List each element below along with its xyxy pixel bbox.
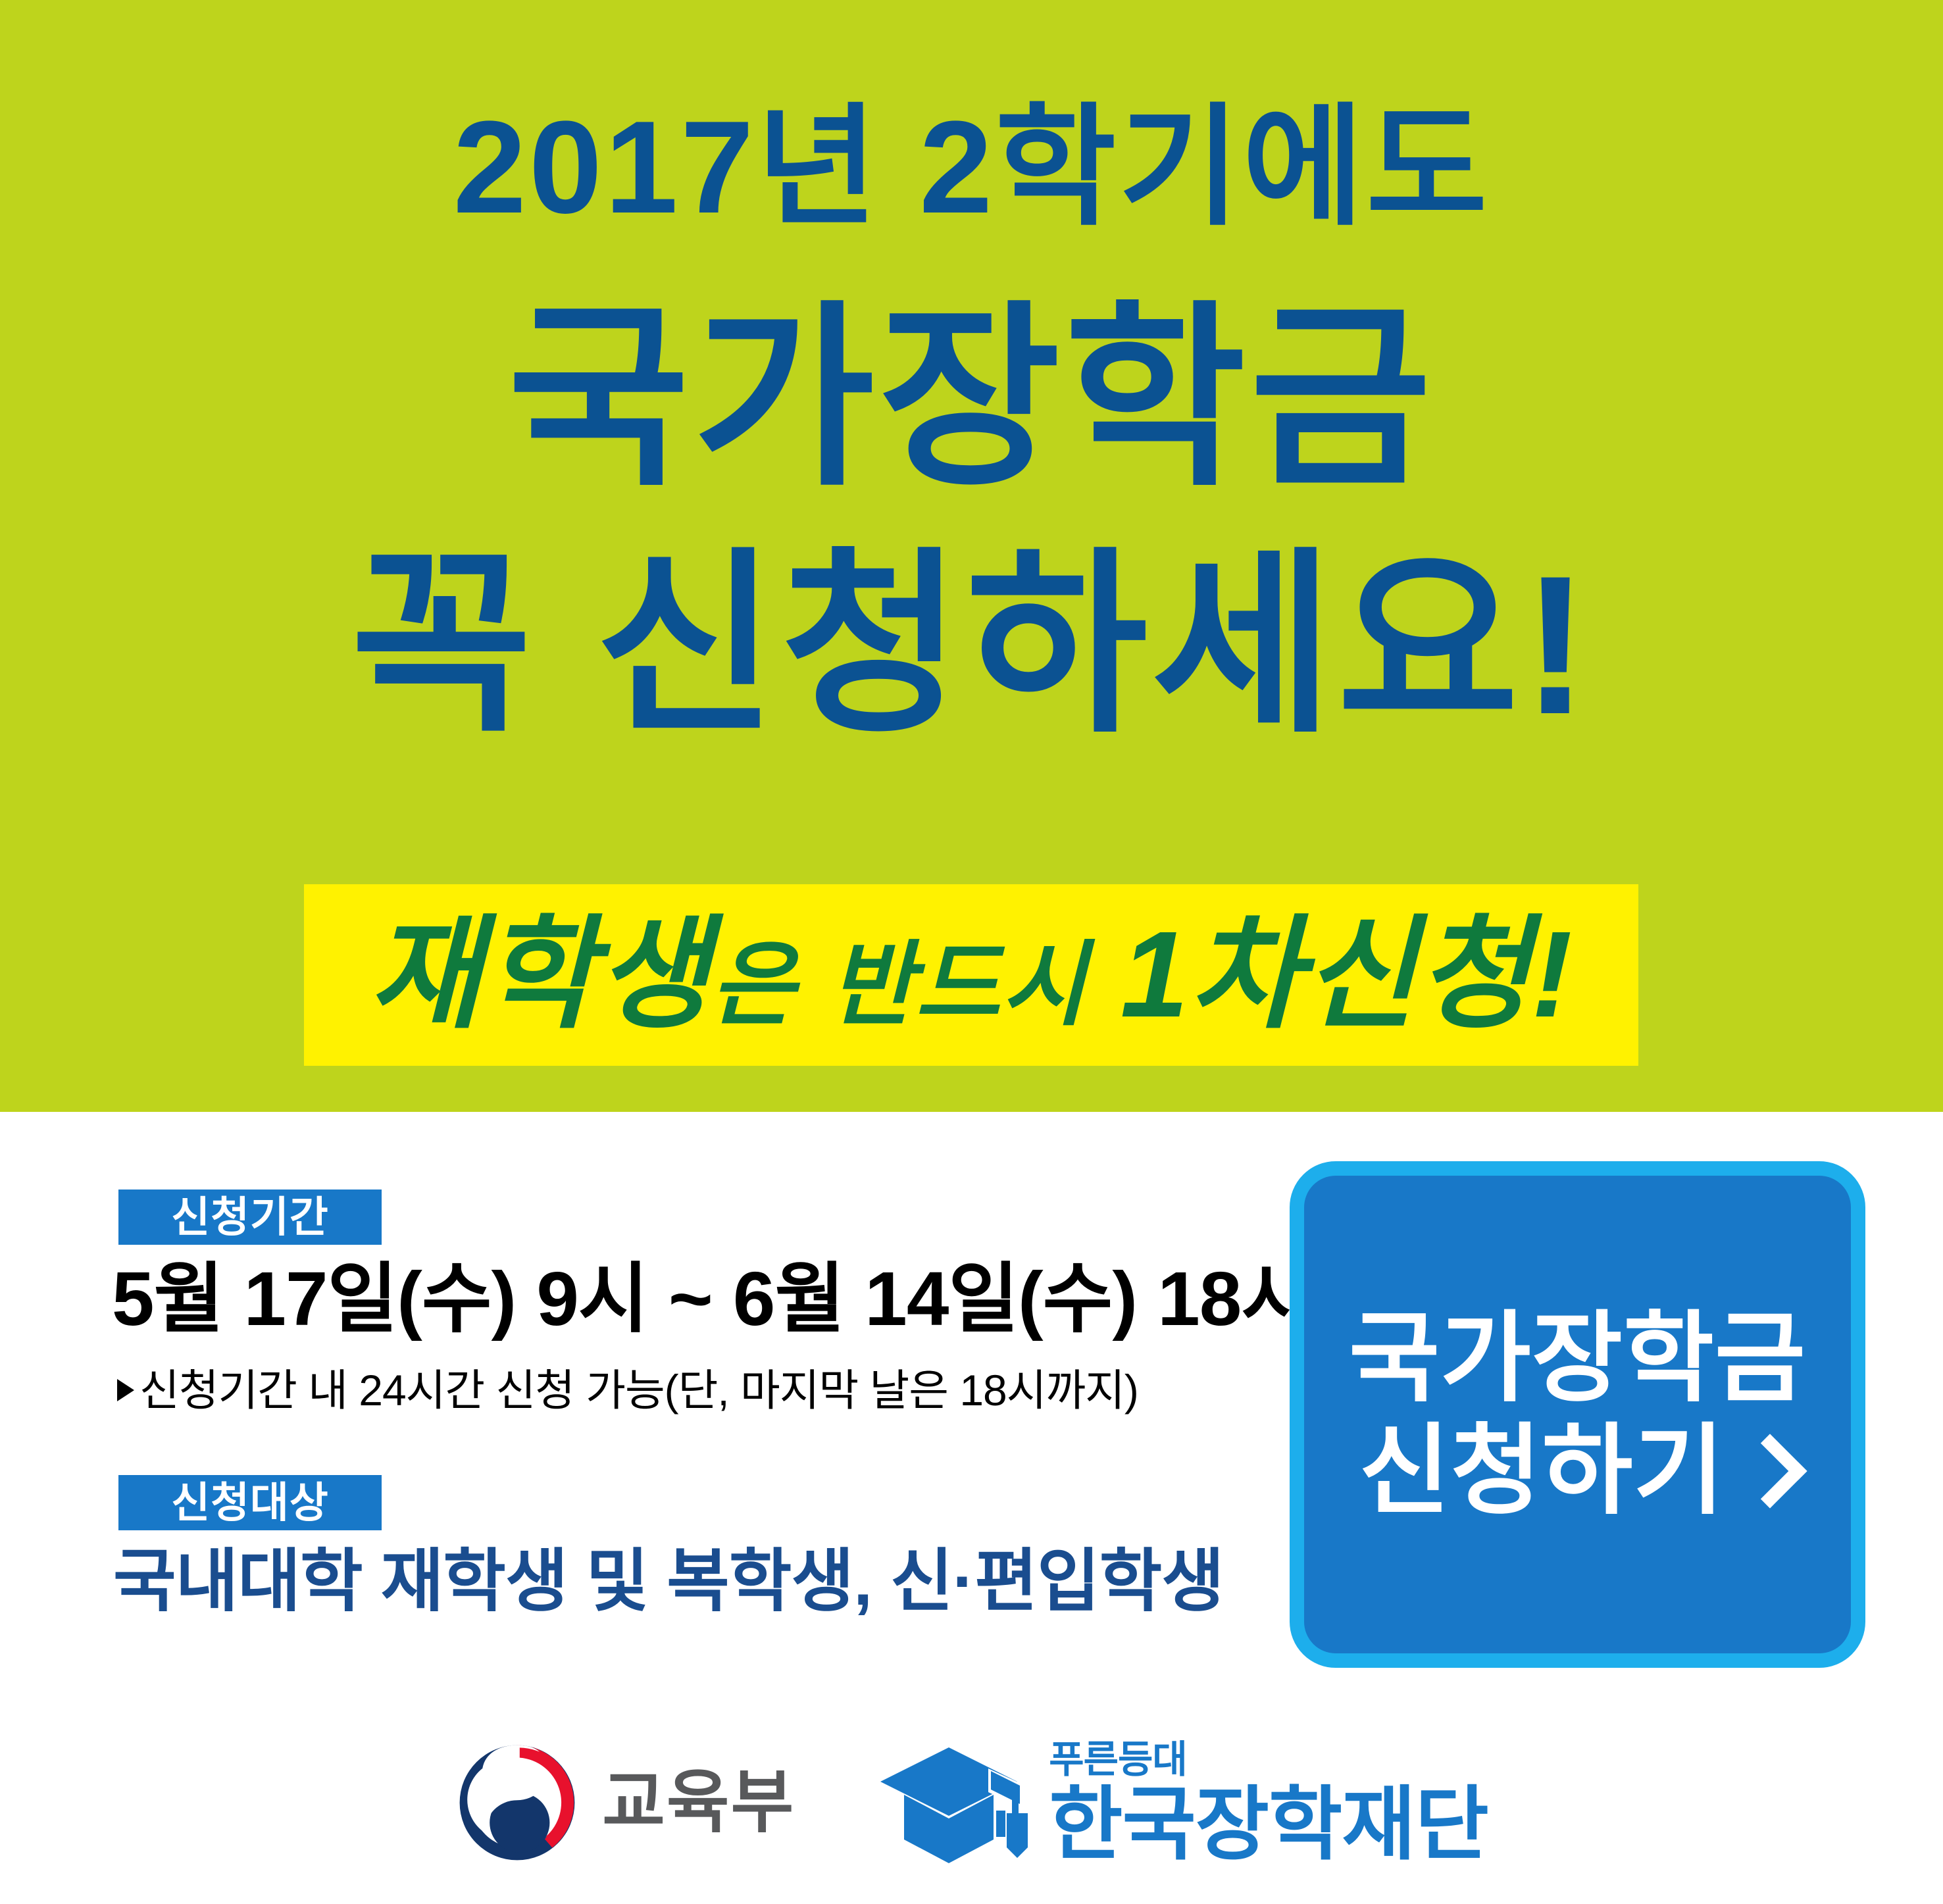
hero-section: 2017년 2학기에도 국가장학금 꼭 신청하세요! 재학생은 반드시 1차신청… xyxy=(0,0,1943,1112)
highlight-callout-text: 재학생은 반드시 1차신청! xyxy=(369,914,1574,1036)
hero-headline-line3: 꼭 신청하세요! xyxy=(0,546,1943,743)
triangle-right-icon xyxy=(117,1379,134,1401)
badge-application-period: 신청기간 xyxy=(118,1190,382,1245)
application-period-note-text: 신청기간 내 24시간 신청 가능(단, 마지막 날은 18시까지) xyxy=(139,1368,1138,1412)
cta-label-line2-row: 신청하기 xyxy=(1359,1415,1796,1527)
chevron-right-icon xyxy=(1732,1434,1807,1508)
badge-application-target: 신청대상 xyxy=(118,1475,382,1530)
highlight-part-first-round: 1차신청! xyxy=(1121,907,1574,1043)
cta-label-line2: 신청하기 xyxy=(1359,1415,1725,1527)
cta-label-line1: 국가장학금 xyxy=(1349,1302,1806,1415)
logo-ministry-of-education: 교육부 xyxy=(455,1740,795,1865)
highlight-part-enrolled: 재학생 xyxy=(369,907,711,1043)
application-period-note: 신청기간 내 24시간 신청 가능(단, 마지막 날은 18시까지) xyxy=(117,1368,1138,1412)
application-target-value: 국내대학 재학생 및 복학생, 신·편입학생 xyxy=(113,1547,1224,1616)
logo-kosaf-sublabel: 푸른등대 xyxy=(1049,1741,1488,1779)
highlight-part-must: 반드시 xyxy=(830,933,1088,1036)
logo-ministry-of-education-label: 교육부 xyxy=(602,1768,795,1837)
hero-headline-line1: 2017년 2학기에도 xyxy=(0,102,1943,234)
logo-kosaf-label: 한국장학재단 xyxy=(1049,1784,1488,1865)
graduation-cap-icon xyxy=(880,1737,1032,1868)
hero-headline-line2: 국가장학금 xyxy=(0,299,1943,497)
application-period-value: 5월 17일(수) 9시 ~ 6월 14일(수) 18시 xyxy=(112,1261,1311,1337)
highlight-part-particle: 은 xyxy=(711,933,797,1036)
logo-kosaf: 푸른등대 한국장학재단 xyxy=(880,1737,1488,1868)
info-section: 신청기간 5월 17일(수) 9시 ~ 6월 14일(수) 18시 신청기간 내… xyxy=(0,1112,1943,1904)
korea-government-taegeuk-icon xyxy=(455,1740,580,1865)
footer-logos: 교육부 푸른등대 한국장학재단 xyxy=(0,1704,1943,1901)
scholarship-promo-banner: 2017년 2학기에도 국가장학금 꼭 신청하세요! 재학생은 반드시 1차신청… xyxy=(0,0,1943,1904)
apply-scholarship-button[interactable]: 국가장학금 신청하기 xyxy=(1290,1161,1865,1668)
logo-kosaf-text: 푸른등대 한국장학재단 xyxy=(1049,1741,1488,1865)
highlight-callout-box: 재학생은 반드시 1차신청! xyxy=(304,884,1638,1066)
